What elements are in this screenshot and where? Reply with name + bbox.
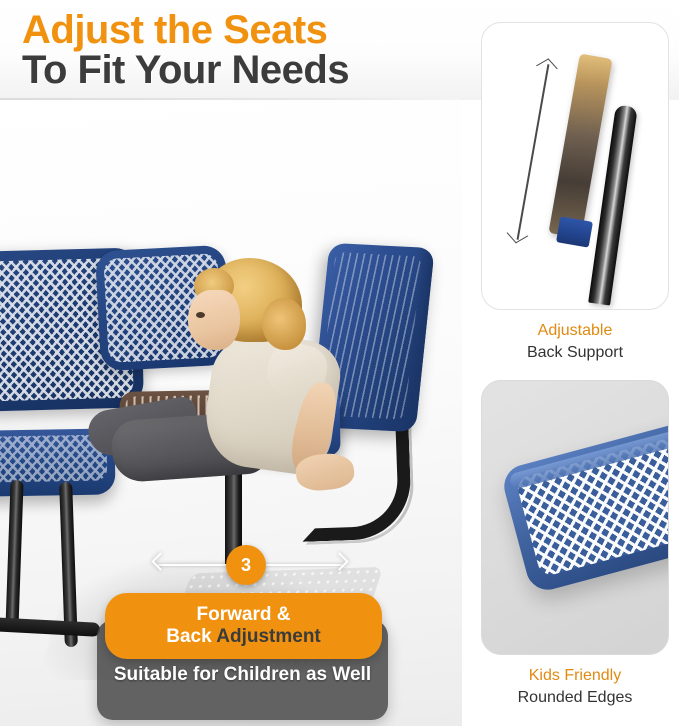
caption-line-1: Kids Friendly bbox=[481, 665, 669, 687]
caption-line-1: Adjustable bbox=[481, 320, 669, 342]
feature-card-adjustable-back-support bbox=[481, 22, 669, 310]
secondary-callout-line-2: Suitable for Children as Well bbox=[97, 664, 388, 686]
feature-caption-adjustable: Adjustable Back Support bbox=[481, 320, 669, 363]
page-title-line-1: Adjust the Seats bbox=[22, 8, 327, 53]
backrest-bracket-blue-end bbox=[556, 216, 593, 247]
arrow-left-icon bbox=[151, 552, 169, 570]
adjustment-range-arrow: 3 bbox=[150, 545, 350, 585]
arrow-up-icon bbox=[536, 58, 558, 76]
arrow-right-icon bbox=[330, 552, 348, 570]
arrow-down-icon bbox=[507, 226, 529, 244]
child-hair-curl bbox=[262, 298, 306, 350]
levels-count-badge: 3 bbox=[226, 545, 266, 585]
page-title-line-2: To Fit Your Needs bbox=[22, 48, 349, 93]
caption-line-2: Rounded Edges bbox=[481, 687, 669, 709]
feature-caption-kids-friendly: Kids Friendly Rounded Edges bbox=[481, 665, 669, 708]
child-model bbox=[150, 258, 390, 508]
hero-product-photo: 3 Three Levels of Adjustment Suitable fo… bbox=[0, 100, 462, 726]
caption-line-2: Back Support bbox=[481, 342, 669, 364]
primary-callout-line-1: Forward & bbox=[197, 604, 291, 626]
arrow-line bbox=[517, 64, 549, 240]
child-eye bbox=[196, 312, 205, 318]
primary-callout-remainder: Adjustment bbox=[212, 626, 321, 647]
bench-leg bbox=[5, 480, 23, 630]
primary-callout-line-2: Back Adjustment bbox=[166, 626, 321, 648]
rounded-edge-mesh-seat bbox=[499, 411, 669, 594]
primary-callout-emphasis: Back bbox=[166, 626, 211, 647]
primary-callout-pill: Forward & Back Adjustment bbox=[105, 593, 382, 659]
feature-card-kids-friendly-edges bbox=[481, 380, 669, 655]
child-face bbox=[188, 290, 240, 350]
